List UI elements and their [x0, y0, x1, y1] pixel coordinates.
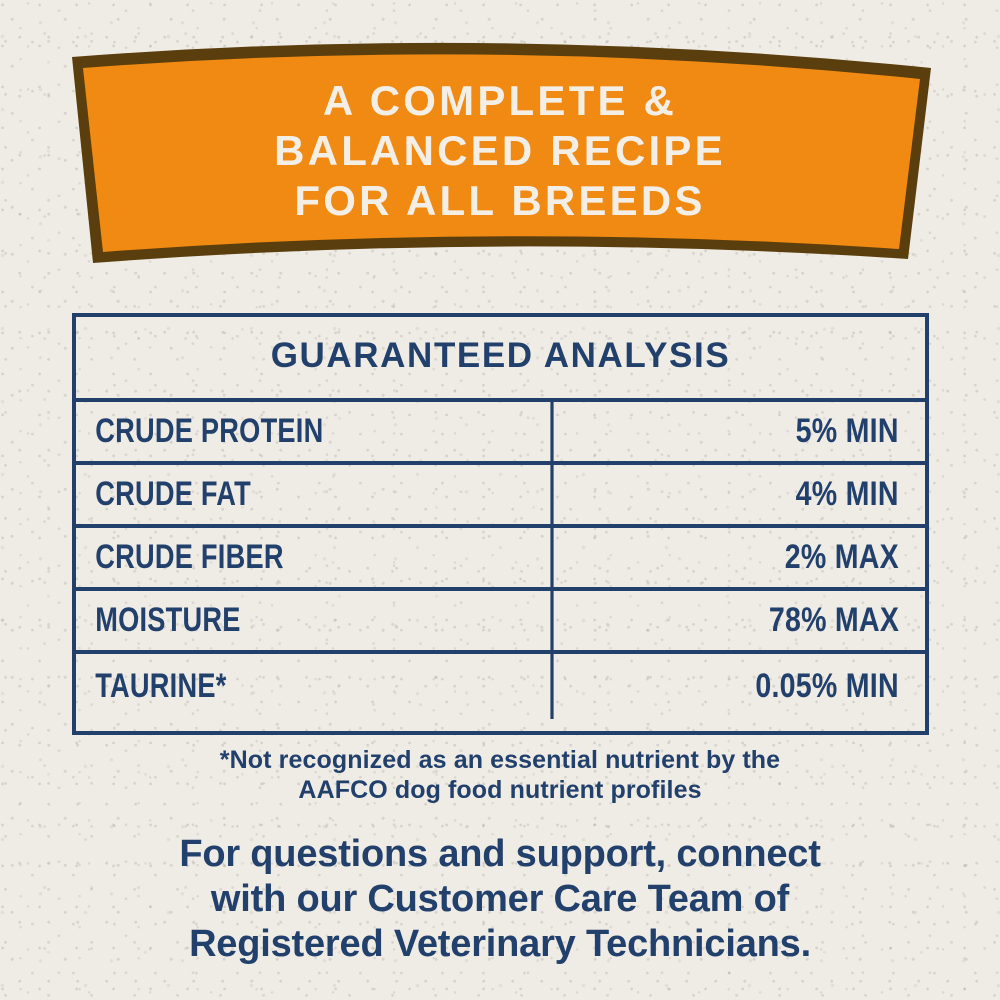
analysis-table-title: GUARANTEED ANALYSIS: [76, 317, 925, 402]
footnote-line-1: *Not recognized as an essential nutrient…: [50, 745, 950, 775]
nutrient-value-taurine: 0.05% MIN: [673, 654, 925, 719]
support-line-2: with our Customer Care Team of: [60, 877, 940, 922]
table-row: MOISTURE 78% MAX: [76, 591, 925, 654]
support-line-1: For questions and support, connect: [60, 832, 940, 877]
value-text: 4% MIN: [796, 475, 899, 514]
guaranteed-analysis-table: GUARANTEED ANALYSIS CRUDE PROTEIN 5% MIN…: [72, 313, 929, 735]
nutrient-label-crude-fat: CRUDE FAT: [76, 465, 554, 524]
customer-support-message: For questions and support, connect with …: [60, 832, 940, 967]
nutrient-label-taurine: TAURINE*: [76, 654, 554, 719]
nutrient-label-crude-protein: CRUDE PROTEIN: [76, 402, 554, 461]
table-row: CRUDE PROTEIN 5% MIN: [76, 402, 925, 465]
nutrient-value-crude-fat: 4% MIN: [673, 465, 925, 524]
table-row: CRUDE FAT 4% MIN: [76, 465, 925, 528]
headline-banner: A COMPLETE & BALANCED RECIPE FOR ALL BRE…: [0, 0, 1000, 290]
table-row: TAURINE* 0.05% MIN: [76, 654, 925, 719]
banner-shape-icon: [0, 0, 1000, 290]
footnote-line-2: AAFCO dog food nutrient profiles: [50, 775, 950, 805]
table-row: CRUDE FIBER 2% MAX: [76, 528, 925, 591]
nutrient-value-crude-fiber: 2% MAX: [673, 528, 925, 587]
value-text: 78% MAX: [769, 601, 899, 640]
nutrient-value-moisture: 78% MAX: [673, 591, 925, 650]
nutrient-label-moisture: MOISTURE: [76, 591, 554, 650]
support-line-3: Registered Veterinary Technicians.: [60, 922, 940, 967]
banner-fill-shape: [83, 54, 920, 252]
value-text: 0.05% MIN: [755, 667, 899, 706]
taurine-footnote: *Not recognized as an essential nutrient…: [50, 745, 950, 805]
nutrient-label-crude-fiber: CRUDE FIBER: [76, 528, 554, 587]
nutrient-value-crude-protein: 5% MIN: [673, 402, 925, 461]
value-text: 2% MAX: [785, 538, 899, 577]
value-text: 5% MIN: [796, 412, 899, 451]
